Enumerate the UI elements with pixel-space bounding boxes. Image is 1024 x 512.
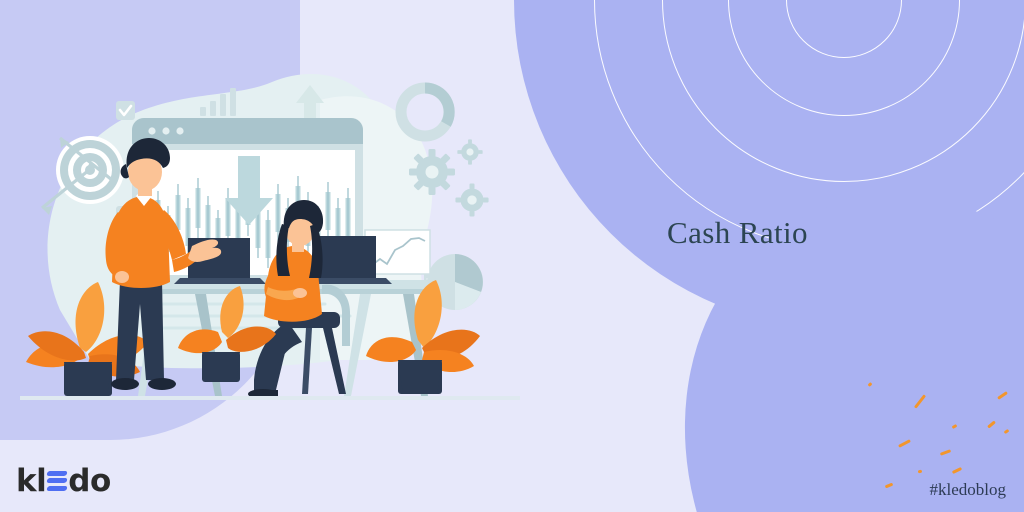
- logo-text-right: do: [68, 466, 111, 497]
- window-dot: [148, 127, 155, 134]
- hashtag-label: #kledoblog: [930, 480, 1007, 500]
- checkbox-checked-icon: [116, 101, 135, 120]
- donut-chart-icon: [401, 88, 449, 136]
- hero-illustration: [20, 60, 520, 410]
- kledo-logo[interactable]: kl do: [16, 464, 111, 498]
- banner-canvas: Cash Ratio kl do #kledoblog: [0, 0, 1024, 512]
- window-dot: [162, 127, 169, 134]
- floor-line: [20, 396, 520, 400]
- kledo-bars-mark-icon: [47, 471, 67, 492]
- window-dot: [176, 127, 183, 134]
- logo-text-left: kl: [16, 466, 46, 497]
- page-title: Cash Ratio: [560, 215, 915, 251]
